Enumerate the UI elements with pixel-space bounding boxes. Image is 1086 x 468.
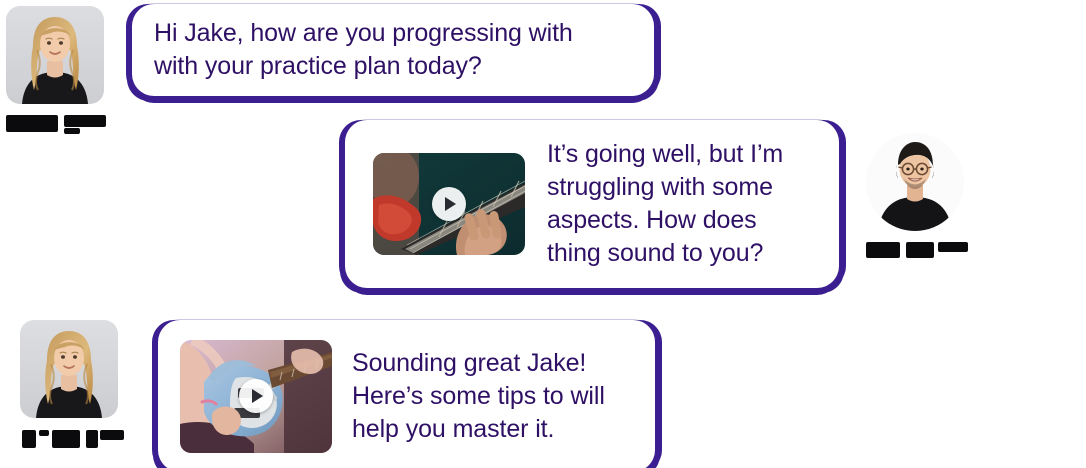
avatar[interactable]	[20, 320, 118, 418]
redaction-block	[64, 128, 80, 134]
message-text: Hi Jake, how are you progressing with wi…	[154, 17, 573, 83]
avatar[interactable]	[6, 6, 104, 104]
play-icon[interactable]	[432, 187, 466, 221]
redaction-block	[6, 115, 58, 132]
participant-name-label	[6, 113, 104, 135]
participant-avatar-student[interactable]	[866, 133, 964, 262]
video-thumbnail-guitar-fretting[interactable]	[373, 153, 525, 255]
message-bubble-2[interactable]: It’s going well, but I’m struggling with…	[345, 120, 839, 288]
avatar[interactable]	[866, 133, 964, 231]
message-bubble-3[interactable]: Sounding great Jake! Here’s some tips to…	[158, 320, 655, 468]
redaction-block	[100, 430, 124, 440]
play-icon[interactable]	[239, 379, 273, 413]
redaction-block	[938, 242, 968, 252]
redaction-block	[52, 430, 80, 448]
play-triangle	[445, 197, 456, 211]
redaction-block	[866, 242, 900, 258]
chat-conversation-canvas: Hi Jake, how are you progressing with wi…	[0, 0, 1086, 468]
play-triangle	[252, 389, 263, 403]
message-text: Sounding great Jake! Here’s some tips to…	[352, 347, 605, 446]
participant-avatar-coach-top[interactable]	[6, 6, 104, 135]
message-text: It’s going well, but I’m struggling with…	[547, 138, 783, 270]
redaction-block	[39, 430, 49, 436]
redaction-block	[64, 115, 106, 127]
participant-name-label	[866, 240, 964, 262]
participant-avatar-coach-bottom[interactable]	[20, 320, 118, 449]
redaction-block	[22, 430, 36, 448]
video-thumbnail-blue-guitar[interactable]	[180, 340, 332, 453]
redaction-block	[906, 242, 934, 258]
redaction-block	[86, 430, 98, 448]
participant-name-label	[20, 427, 118, 449]
message-bubble-1[interactable]: Hi Jake, how are you progressing with wi…	[132, 4, 654, 96]
